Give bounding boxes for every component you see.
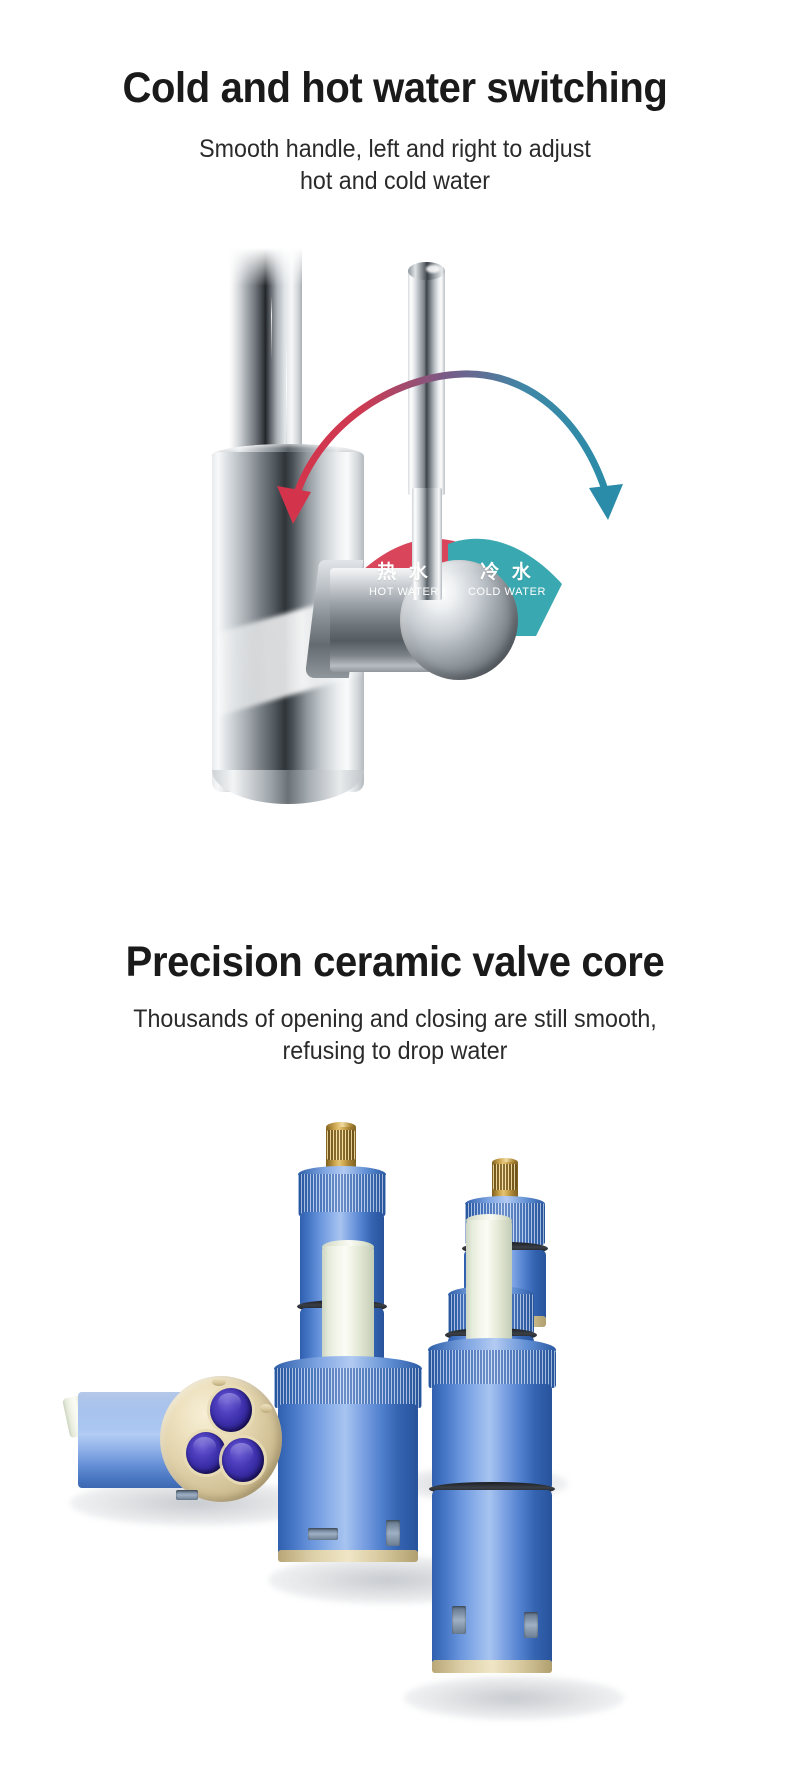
section-1-text-block: Cold and hot water switching Smooth hand… — [0, 66, 790, 197]
faceplate-port — [222, 1438, 264, 1482]
valve-body-lower — [432, 1490, 552, 1666]
port-inner-gloss — [193, 1437, 215, 1455]
section-1-headline: Cold and hot water switching — [28, 66, 763, 111]
brass-stem-splines — [327, 1130, 355, 1160]
ribbed-collar — [274, 1368, 422, 1408]
ribbed-collar — [298, 1174, 386, 1216]
beige-seal-ring — [432, 1660, 552, 1673]
port-inner-gloss — [230, 1443, 254, 1462]
faucet-lever-top-cap — [408, 262, 445, 280]
hot-cold-rotation-arc-arrow — [255, 348, 640, 528]
valve-shadow — [404, 1676, 624, 1720]
body-slot-opening — [308, 1528, 338, 1540]
ivory-inner-stem — [466, 1220, 512, 1348]
section-2-subhead-line-1: Thousands of opening and closing are sti… — [28, 1003, 763, 1035]
body-slot-opening — [176, 1490, 198, 1500]
section-2-subhead-line-2: refusing to drop water — [28, 1035, 763, 1067]
faceplate-port — [210, 1388, 252, 1432]
beige-seal-ring — [278, 1550, 418, 1562]
faceplate-nub — [260, 1404, 272, 1413]
faucet-body-base — [212, 770, 364, 804]
section-2-subhead: Thousands of opening and closing are sti… — [28, 1003, 763, 1067]
section-1-subhead-line-2: hot and cold water — [28, 165, 763, 197]
product-feature-page: Cold and hot water switching Smooth hand… — [0, 0, 790, 1776]
valve-body — [432, 1384, 552, 1490]
body-slot-opening — [452, 1606, 466, 1634]
port-inner-gloss — [218, 1393, 242, 1412]
body-slot-opening — [386, 1520, 400, 1546]
section-ceramic-valve-core: Precision ceramic valve core Thousands o… — [0, 900, 790, 1776]
section-1-subhead-line-1: Smooth handle, left and right to adjust — [28, 133, 763, 165]
faceplate-port — [186, 1432, 226, 1474]
section-2-text-block: Precision ceramic valve core Thousands o… — [0, 940, 790, 1067]
ceramic-faceplate — [160, 1376, 282, 1502]
brass-stem-splines — [493, 1164, 517, 1190]
section-1-subhead: Smooth handle, left and right to adjust … — [28, 133, 763, 197]
ribbed-collar — [428, 1350, 556, 1388]
body-slot-opening — [524, 1612, 538, 1638]
ivory-inner-stem — [322, 1246, 374, 1366]
faucet-illustration: 热 水 HOT WATER 冷 水 COLD WATER — [0, 230, 790, 850]
faceplate-nub — [212, 1378, 226, 1386]
section-cold-hot-switching: Cold and hot water switching Smooth hand… — [0, 0, 790, 900]
section-2-headline: Precision ceramic valve core — [28, 940, 763, 985]
